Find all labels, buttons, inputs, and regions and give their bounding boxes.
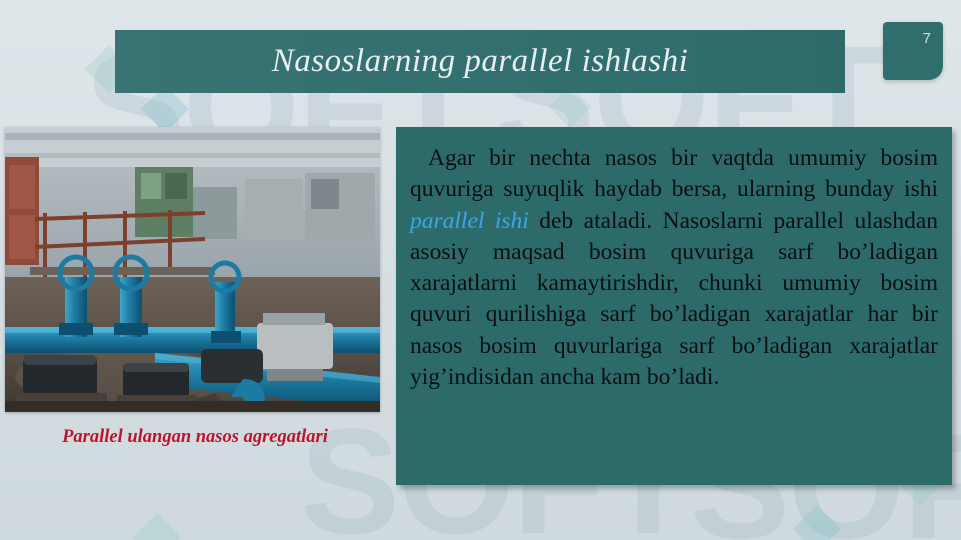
photo-illustration [5, 127, 380, 412]
body-text-part2: deb ataladi. Nasoslarni parallel ulashda… [410, 208, 938, 390]
body-text-panel: Agar bir nechta nasos bir vaqtda umumiy … [396, 127, 952, 485]
body-paragraph: Agar bir nechta nasos bir vaqtda umumiy … [410, 143, 938, 393]
body-text-part1: Agar bir nechta nasos bir vaqtda umumiy … [410, 145, 938, 202]
body-text-highlight: parallel ishi [410, 208, 529, 234]
page-number-label: 7 [923, 30, 931, 47]
slide-title-bar: Nasoslarning parallel ishlashi [115, 30, 845, 93]
pump-station-photo [5, 127, 380, 412]
page-title: Nasoslarning parallel ishlashi [272, 43, 689, 80]
page-number-badge: 7 [883, 22, 943, 80]
watermark-diamond-icon [793, 505, 841, 540]
watermark-diamond-icon [133, 513, 181, 540]
photo-caption: Parallel ulangan nasos agregatlari [20, 425, 370, 450]
slide: SOFT SOFT SOFT SOFT 7 Nasoslarning paral… [0, 0, 961, 540]
